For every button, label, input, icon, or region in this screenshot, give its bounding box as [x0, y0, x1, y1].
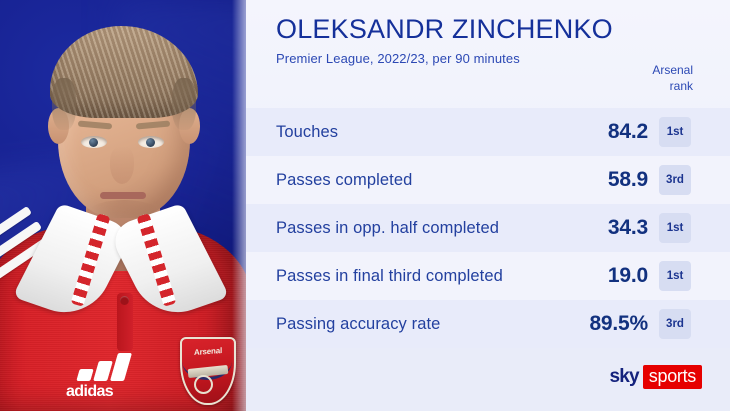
player-stats-infographic: adidas Arsenal OLEKSANDR ZINCHENKO Premi… — [0, 0, 730, 411]
stat-value: 19.0 — [547, 264, 659, 288]
rank-badge: 1st — [659, 213, 691, 243]
stat-label: Passing accuracy rate — [276, 315, 547, 334]
player-photo-panel: adidas Arsenal — [0, 0, 246, 411]
page-title: OLEKSANDR ZINCHENKO — [276, 14, 714, 44]
stat-label: Passes in final third completed — [276, 267, 547, 286]
hair-fade-left — [52, 78, 76, 130]
table-row: Passes in final third completed 19.0 1st — [246, 252, 730, 300]
rank-badge: 3rd — [659, 309, 691, 339]
table-row: Passes completed 58.9 3rd — [246, 156, 730, 204]
sports-wordmark: sports — [643, 365, 702, 389]
table-row: Touches 84.2 1st — [246, 108, 730, 156]
pupil-right — [146, 138, 155, 147]
table-row: Passes in opp. half completed 34.3 1st — [246, 204, 730, 252]
player-portrait: adidas Arsenal — [0, 0, 246, 411]
footer: sky sports — [246, 348, 730, 411]
header: OLEKSANDR ZINCHENKO Premier League, 2022… — [276, 14, 714, 66]
crest-cannon-wheel — [194, 375, 213, 394]
rank-header-line-1: Arsenal — [601, 62, 693, 78]
stat-value: 84.2 — [547, 120, 659, 144]
stat-label: Passes in opp. half completed — [276, 219, 547, 238]
sky-sports-logo: sky sports — [609, 365, 702, 389]
adidas-wordmark: adidas — [66, 383, 113, 401]
nose — [110, 146, 134, 184]
stats-panel: OLEKSANDR ZINCHENKO Premier League, 2022… — [246, 0, 730, 411]
pupil-left — [89, 138, 98, 147]
rank-column-header: Arsenal rank — [601, 62, 693, 94]
shirt-button — [120, 296, 129, 305]
stat-label: Passes completed — [276, 171, 547, 190]
stat-value: 89.5% — [547, 312, 659, 336]
rank-badge: 3rd — [659, 165, 691, 195]
mouth — [100, 192, 146, 199]
rank-badge: 1st — [659, 261, 691, 291]
stats-table: Touches 84.2 1st Passes completed 58.9 3… — [246, 108, 730, 348]
arsenal-crest-icon: Arsenal — [180, 337, 236, 405]
rank-header-line-2: rank — [601, 78, 693, 94]
hair-fade-right — [172, 78, 196, 130]
rank-badge: 1st — [659, 117, 691, 147]
stat-value: 58.9 — [547, 168, 659, 192]
stat-label: Touches — [276, 123, 547, 142]
adidas-logo: adidas — [60, 353, 154, 399]
stat-value: 34.3 — [547, 216, 659, 240]
table-row: Passing accuracy rate 89.5% 3rd — [246, 300, 730, 348]
sky-wordmark: sky — [609, 366, 638, 388]
